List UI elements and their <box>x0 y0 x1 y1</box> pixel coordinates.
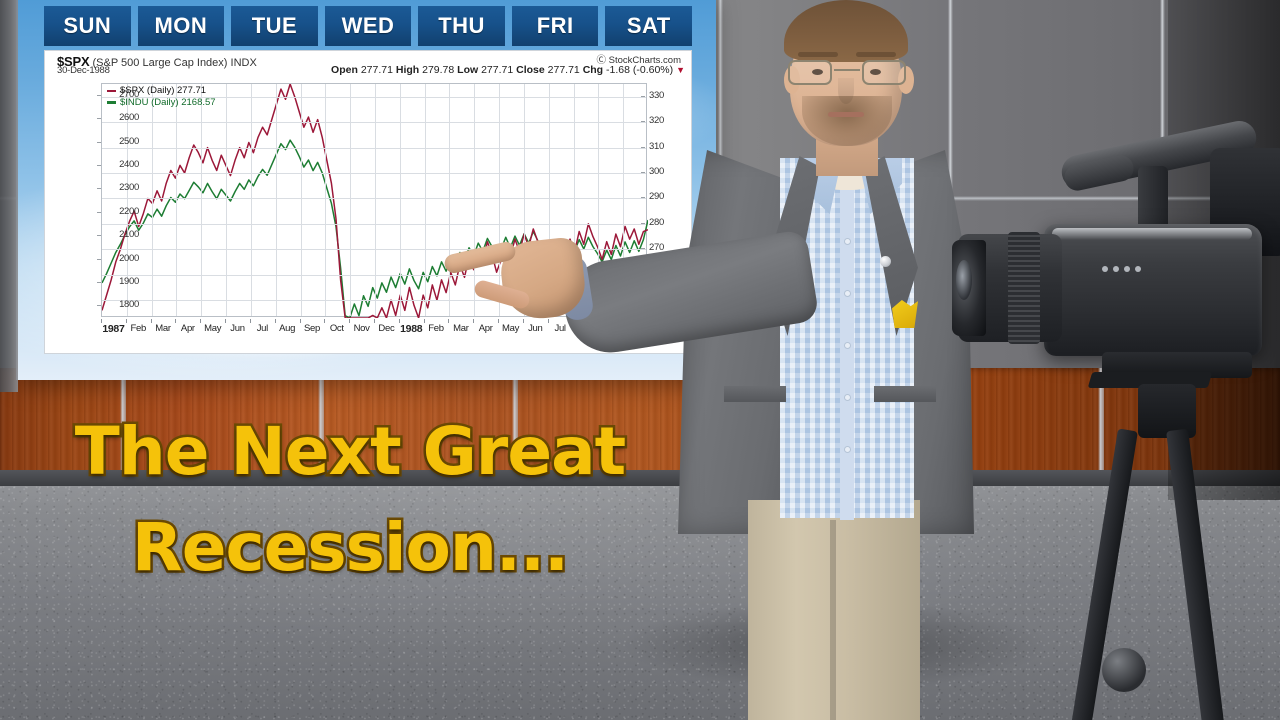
gridline-vertical <box>301 84 302 316</box>
backdrop-panel-edge <box>0 0 18 392</box>
glasses-lens-right <box>862 60 906 85</box>
x-axis-tickmark <box>448 319 449 323</box>
x-axis-tick-label: Jun <box>528 323 542 334</box>
y-axis-left-tick: 2300 <box>99 183 139 193</box>
x-axis-labels: 1987FebMarAprMayJunJulAugSepOctNovDec198… <box>101 319 647 341</box>
x-axis-tick-label: Mar <box>453 323 468 334</box>
close-value: 277.71 <box>548 64 580 76</box>
gridline-vertical <box>375 84 376 316</box>
x-axis-tick-label: Dec <box>378 323 394 334</box>
x-axis-tickmark <box>151 319 152 323</box>
x-axis-tick-label: Nov <box>354 323 370 334</box>
day-tab-label: MON <box>154 13 207 39</box>
day-of-week-tabs: SUN MON TUE WED THU FRI SAT <box>44 6 692 46</box>
day-tab-label: WED <box>342 13 395 39</box>
x-axis-tick-label: Feb <box>428 323 443 334</box>
x-axis-tick-label: Oct <box>330 323 344 334</box>
camera-indicator-dot <box>1124 266 1130 272</box>
camera-focus-ring <box>1008 232 1040 344</box>
y-axis-left-tick: 2100 <box>99 230 139 240</box>
y-axis-left-tick: 2600 <box>99 113 139 123</box>
y-axis-left-tickmark <box>97 95 101 96</box>
y-axis-left-tickmark <box>97 305 101 306</box>
studio-video-camera <box>952 108 1280 720</box>
y-axis-left-tickmark <box>97 118 101 119</box>
y-axis-left-tick: 1800 <box>99 300 139 310</box>
day-tab-label: THU <box>438 13 485 39</box>
gridline-horizontal <box>102 173 646 174</box>
gridline-vertical <box>251 84 252 316</box>
chart-header: $SPX (S&P 500 Large Cap Index) INDX 30-D… <box>45 51 691 77</box>
x-axis-tickmark <box>473 319 474 323</box>
day-tab-fri[interactable]: FRI <box>512 6 599 46</box>
chg-label: Chg <box>583 64 603 76</box>
day-tab-label: FRI <box>537 13 574 39</box>
open-value: 277.71 <box>361 64 393 76</box>
day-tab-wed[interactable]: WED <box>325 6 412 46</box>
high-value: 279.78 <box>422 64 454 76</box>
y-axis-left-tickmark <box>97 235 101 236</box>
glasses-lens-left <box>788 60 832 85</box>
camera-indicator-dot <box>1135 266 1141 272</box>
gridline-vertical <box>474 84 475 316</box>
y-axis-left-tickmark <box>97 142 101 143</box>
low-value: 277.71 <box>481 64 513 76</box>
legend-item-spx: $SPX (Daily) 277.71 <box>107 85 216 97</box>
gridline-vertical <box>226 84 227 316</box>
x-axis-tickmark <box>200 319 201 323</box>
eyebrow-right <box>856 52 896 57</box>
gridline-vertical <box>276 84 277 316</box>
x-axis-tickmark <box>300 319 301 323</box>
gridline-vertical <box>425 84 426 316</box>
y-axis-left-tickmark <box>97 212 101 213</box>
x-axis-tick-label: 1988 <box>400 323 422 335</box>
y-axis-left-tick: 2200 <box>99 207 139 217</box>
gridline-horizontal <box>102 148 646 149</box>
x-axis-tickmark <box>374 319 375 323</box>
camera-indicator-lights <box>1102 266 1141 272</box>
gridline-horizontal <box>102 224 646 225</box>
high-label: High <box>396 64 419 76</box>
y-axis-left-tick: 1900 <box>99 277 139 287</box>
shirt-button <box>844 290 851 297</box>
x-axis-tickmark <box>225 319 226 323</box>
x-axis-tickmark <box>498 319 499 323</box>
chart-description: (S&P 500 Large Cap Index) <box>93 57 228 69</box>
y-axis-left-tickmark <box>97 259 101 260</box>
x-axis-tickmark <box>175 319 176 323</box>
gridline-vertical <box>325 84 326 316</box>
tripod-leg <box>1166 429 1226 720</box>
studio-scene: SUN MON TUE WED THU FRI SAT $SPX (S&P 50… <box>0 0 1280 720</box>
gridline-vertical <box>350 84 351 316</box>
x-axis-tick-label: Jul <box>257 323 268 334</box>
x-axis-tickmark <box>250 319 251 323</box>
y-axis-left-tickmark <box>97 188 101 189</box>
y-axis-left-tick: 2400 <box>99 160 139 170</box>
x-axis-tick-label: May <box>204 323 221 334</box>
tripod-knob <box>1102 648 1146 692</box>
legend-item-indu: $INDU (Daily) 2168.57 <box>107 97 216 109</box>
y-axis-left-tick: 2500 <box>99 137 139 147</box>
camera-indicator-dot <box>1102 266 1108 272</box>
camera-body <box>1044 224 1262 356</box>
mouth <box>828 112 864 117</box>
x-axis-tick-label: May <box>502 323 519 334</box>
day-tab-label: SUN <box>63 13 111 39</box>
glasses-bridge <box>834 69 860 71</box>
day-tab-thu[interactable]: THU <box>418 6 505 46</box>
gridline-vertical <box>176 84 177 316</box>
gridline-horizontal <box>102 122 646 123</box>
x-axis-tick-label: Mar <box>155 323 170 334</box>
x-axis-tickmark <box>324 319 325 323</box>
gridline-vertical <box>152 84 153 316</box>
chart-legend: $SPX (Daily) 277.71 $INDU (Daily) 2168.5… <box>107 85 216 108</box>
day-tab-tue[interactable]: TUE <box>231 6 318 46</box>
gridline-vertical <box>499 84 500 316</box>
x-axis-tickmark <box>275 319 276 323</box>
gridline-vertical <box>449 84 450 316</box>
x-axis-tickmark <box>126 319 127 323</box>
shirt-button <box>844 446 851 453</box>
x-axis-tick-label: Jul <box>555 323 566 334</box>
legend-swatch-indu <box>107 101 116 104</box>
lapel-pin <box>880 256 891 267</box>
chart-exchange: INDX <box>231 57 257 69</box>
y-axis-left-tickmark <box>97 165 101 166</box>
close-label: Close <box>516 64 545 76</box>
x-axis-tickmark <box>523 319 524 323</box>
camera-lens-glass <box>956 260 972 300</box>
x-axis-tick-label: Apr <box>181 323 195 334</box>
x-axis-tick-label: Apr <box>479 323 493 334</box>
y-axis-left-tick: 2000 <box>99 254 139 264</box>
open-label: Open <box>331 64 358 76</box>
x-axis-tick-label: Aug <box>279 323 295 334</box>
low-label: Low <box>457 64 478 76</box>
eyebrow-left <box>798 52 838 57</box>
day-tab-sun[interactable]: SUN <box>44 6 131 46</box>
x-axis-tickmark <box>548 319 549 323</box>
gridline-vertical <box>400 84 401 316</box>
shirt-button <box>844 342 851 349</box>
x-axis-tickmark <box>424 319 425 323</box>
day-tab-label: TUE <box>252 13 298 39</box>
x-axis-tick-label: 1987 <box>102 323 124 335</box>
trouser-seam <box>830 520 836 720</box>
y-axis-left-tickmark <box>97 282 101 283</box>
blazer-pocket-flap-right <box>874 386 936 402</box>
x-axis-tick-label: Jun <box>230 323 244 334</box>
shirt-button <box>844 238 851 245</box>
blazer-pocket-flap-left <box>724 386 786 402</box>
camera-indicator-dot <box>1113 266 1119 272</box>
gridline-vertical <box>201 84 202 316</box>
gridline-horizontal <box>102 198 646 199</box>
x-axis-tick-label: Sep <box>304 323 320 334</box>
legend-swatch-spx <box>107 90 116 93</box>
legend-label-indu: $INDU (Daily) 2168.57 <box>120 97 216 109</box>
x-axis-tickmark <box>349 319 350 323</box>
x-axis-tick-label: Feb <box>130 323 145 334</box>
camera-body-highlight <box>1052 228 1252 240</box>
legend-label-spx: $SPX (Daily) 277.71 <box>120 85 206 97</box>
shirt-button <box>844 394 851 401</box>
day-tab-mon[interactable]: MON <box>138 6 225 46</box>
chart-date: 30-Dec-1988 <box>57 65 110 76</box>
